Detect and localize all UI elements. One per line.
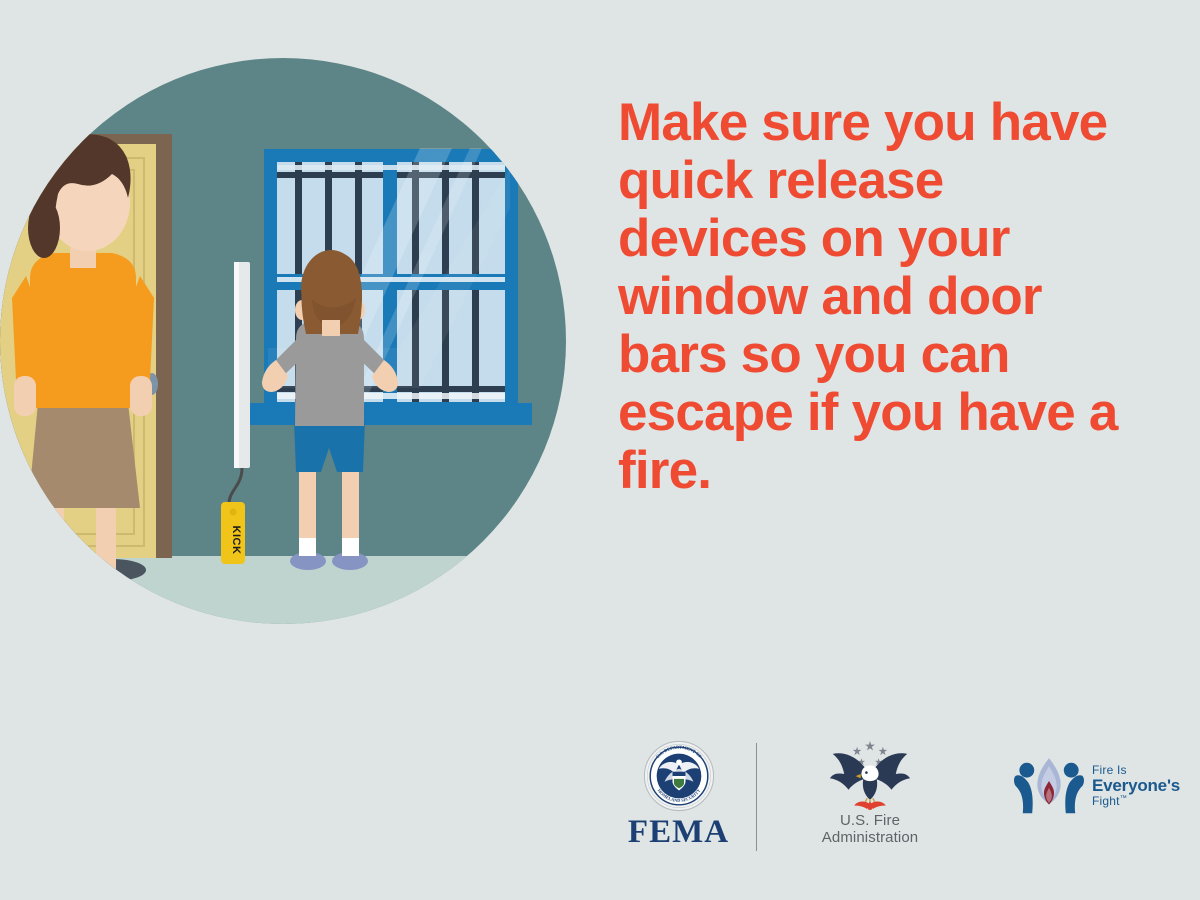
fief-text-block: Fire Is Everyone's Fight™ bbox=[1092, 762, 1180, 807]
fief-line-3: Fight™ bbox=[1092, 795, 1180, 808]
woman-leg-right bbox=[96, 498, 116, 570]
woman-skirt bbox=[28, 403, 140, 508]
usfa-eagle-icon bbox=[827, 738, 913, 810]
woman-hand-left bbox=[14, 376, 36, 416]
logo-bar: U.S. DEPARTMENT OF HOMELAND SECURITY FEM… bbox=[600, 732, 1190, 862]
fief-mark-icon bbox=[1012, 754, 1086, 816]
floor bbox=[0, 556, 566, 634]
release-bar-highlight bbox=[234, 262, 239, 468]
fief-trademark: ™ bbox=[1120, 795, 1127, 802]
headline: Make sure you have quick release devices… bbox=[618, 94, 1138, 500]
fire-safety-poster: KICK bbox=[0, 0, 1200, 900]
release-tag-label: KICK bbox=[230, 526, 242, 555]
figure-right-body bbox=[1065, 775, 1084, 813]
boy-leg-left bbox=[299, 466, 316, 538]
window-sill bbox=[250, 403, 532, 425]
fief-line-2: Everyone's bbox=[1092, 777, 1180, 795]
fema-logo: U.S. DEPARTMENT OF HOMELAND SECURITY FEM… bbox=[616, 740, 741, 849]
eagle-eye bbox=[865, 771, 868, 774]
boy-leg-right bbox=[342, 466, 359, 538]
eagle-head bbox=[861, 765, 878, 781]
fema-wordmark: FEMA bbox=[616, 816, 741, 849]
logo-divider bbox=[756, 743, 757, 851]
woman-leg-left bbox=[44, 498, 64, 570]
figure-right-head bbox=[1064, 763, 1079, 778]
boy-neck bbox=[322, 320, 340, 336]
usfa-logo: U.S. Fire Administration bbox=[800, 738, 940, 847]
release-tag-hole bbox=[230, 509, 237, 516]
eagle-flames bbox=[854, 801, 886, 810]
dhs-seal-icon: U.S. DEPARTMENT OF HOMELAND SECURITY bbox=[643, 740, 715, 812]
woman-shoe-left bbox=[17, 560, 77, 580]
figure-left-body bbox=[1014, 775, 1033, 813]
fire-is-everyones-fight-logo: Fire Is Everyone's Fight™ bbox=[1012, 754, 1187, 816]
figure-left-head bbox=[1019, 763, 1034, 778]
fief-line-3-text: Fight bbox=[1092, 794, 1120, 808]
illustration-scene: KICK bbox=[0, 48, 566, 634]
illustration-container: KICK bbox=[0, 48, 566, 634]
woman-hand-right bbox=[130, 376, 152, 416]
woman-sweater bbox=[26, 253, 140, 408]
woman-ponytail bbox=[28, 198, 60, 258]
usfa-wordmark: U.S. Fire Administration bbox=[800, 812, 940, 847]
family-window-illustration: KICK bbox=[0, 48, 566, 634]
